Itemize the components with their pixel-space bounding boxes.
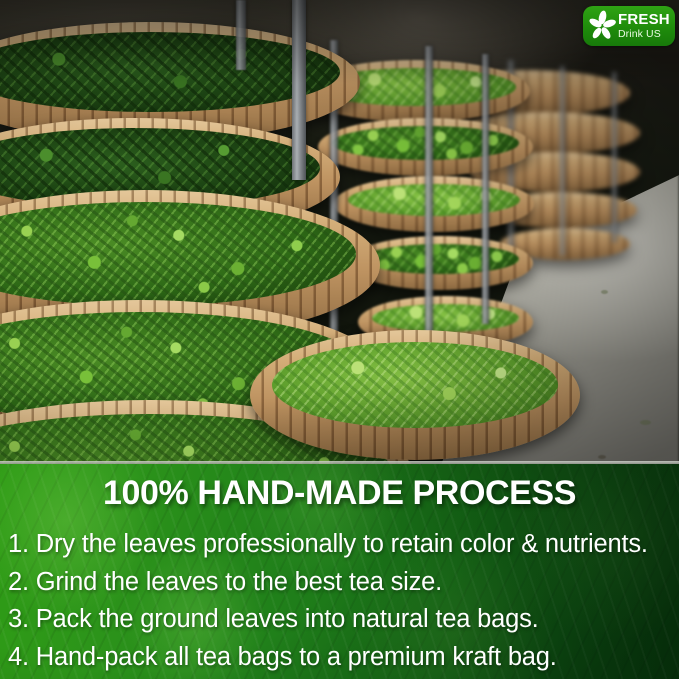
rack-post (560, 66, 565, 256)
brand-name: FRESH (618, 12, 670, 27)
floor-debris (601, 290, 608, 294)
process-step: 4. Hand-pack all tea bags to a premium k… (8, 639, 671, 677)
brand-logo-badge[interactable]: FRESH Drink US (583, 6, 675, 46)
rack-post-foreground (236, 0, 246, 70)
floor-debris (598, 455, 606, 459)
tray-right-partial (250, 330, 580, 460)
leaf-cluster-icon (587, 10, 617, 42)
process-banner: 100% HAND-MADE PROCESS 1. Dry the leaves… (0, 464, 679, 679)
product-infographic: FRESH Drink US 100% HAND-MADE PROCESS 1.… (0, 0, 679, 679)
process-step: 1. Dry the leaves professionally to reta… (8, 526, 671, 564)
rack-post (425, 46, 433, 356)
banner-headline: 100% HAND-MADE PROCESS (0, 474, 679, 513)
tray (334, 176, 534, 232)
process-photo (0, 0, 679, 464)
floor-debris (640, 420, 651, 425)
rack-post (482, 54, 489, 324)
brand-logo-text: FRESH Drink US (618, 12, 670, 40)
process-step: 3. Pack the ground leaves into natural t… (8, 601, 671, 639)
rack-post (612, 72, 617, 242)
process-step: 2. Grind the leaves to the best tea size… (8, 564, 671, 602)
brand-tagline: Drink US (618, 29, 670, 40)
process-step-list: 1. Dry the leaves professionally to reta… (8, 526, 671, 676)
rack-post-foreground (292, 0, 306, 180)
